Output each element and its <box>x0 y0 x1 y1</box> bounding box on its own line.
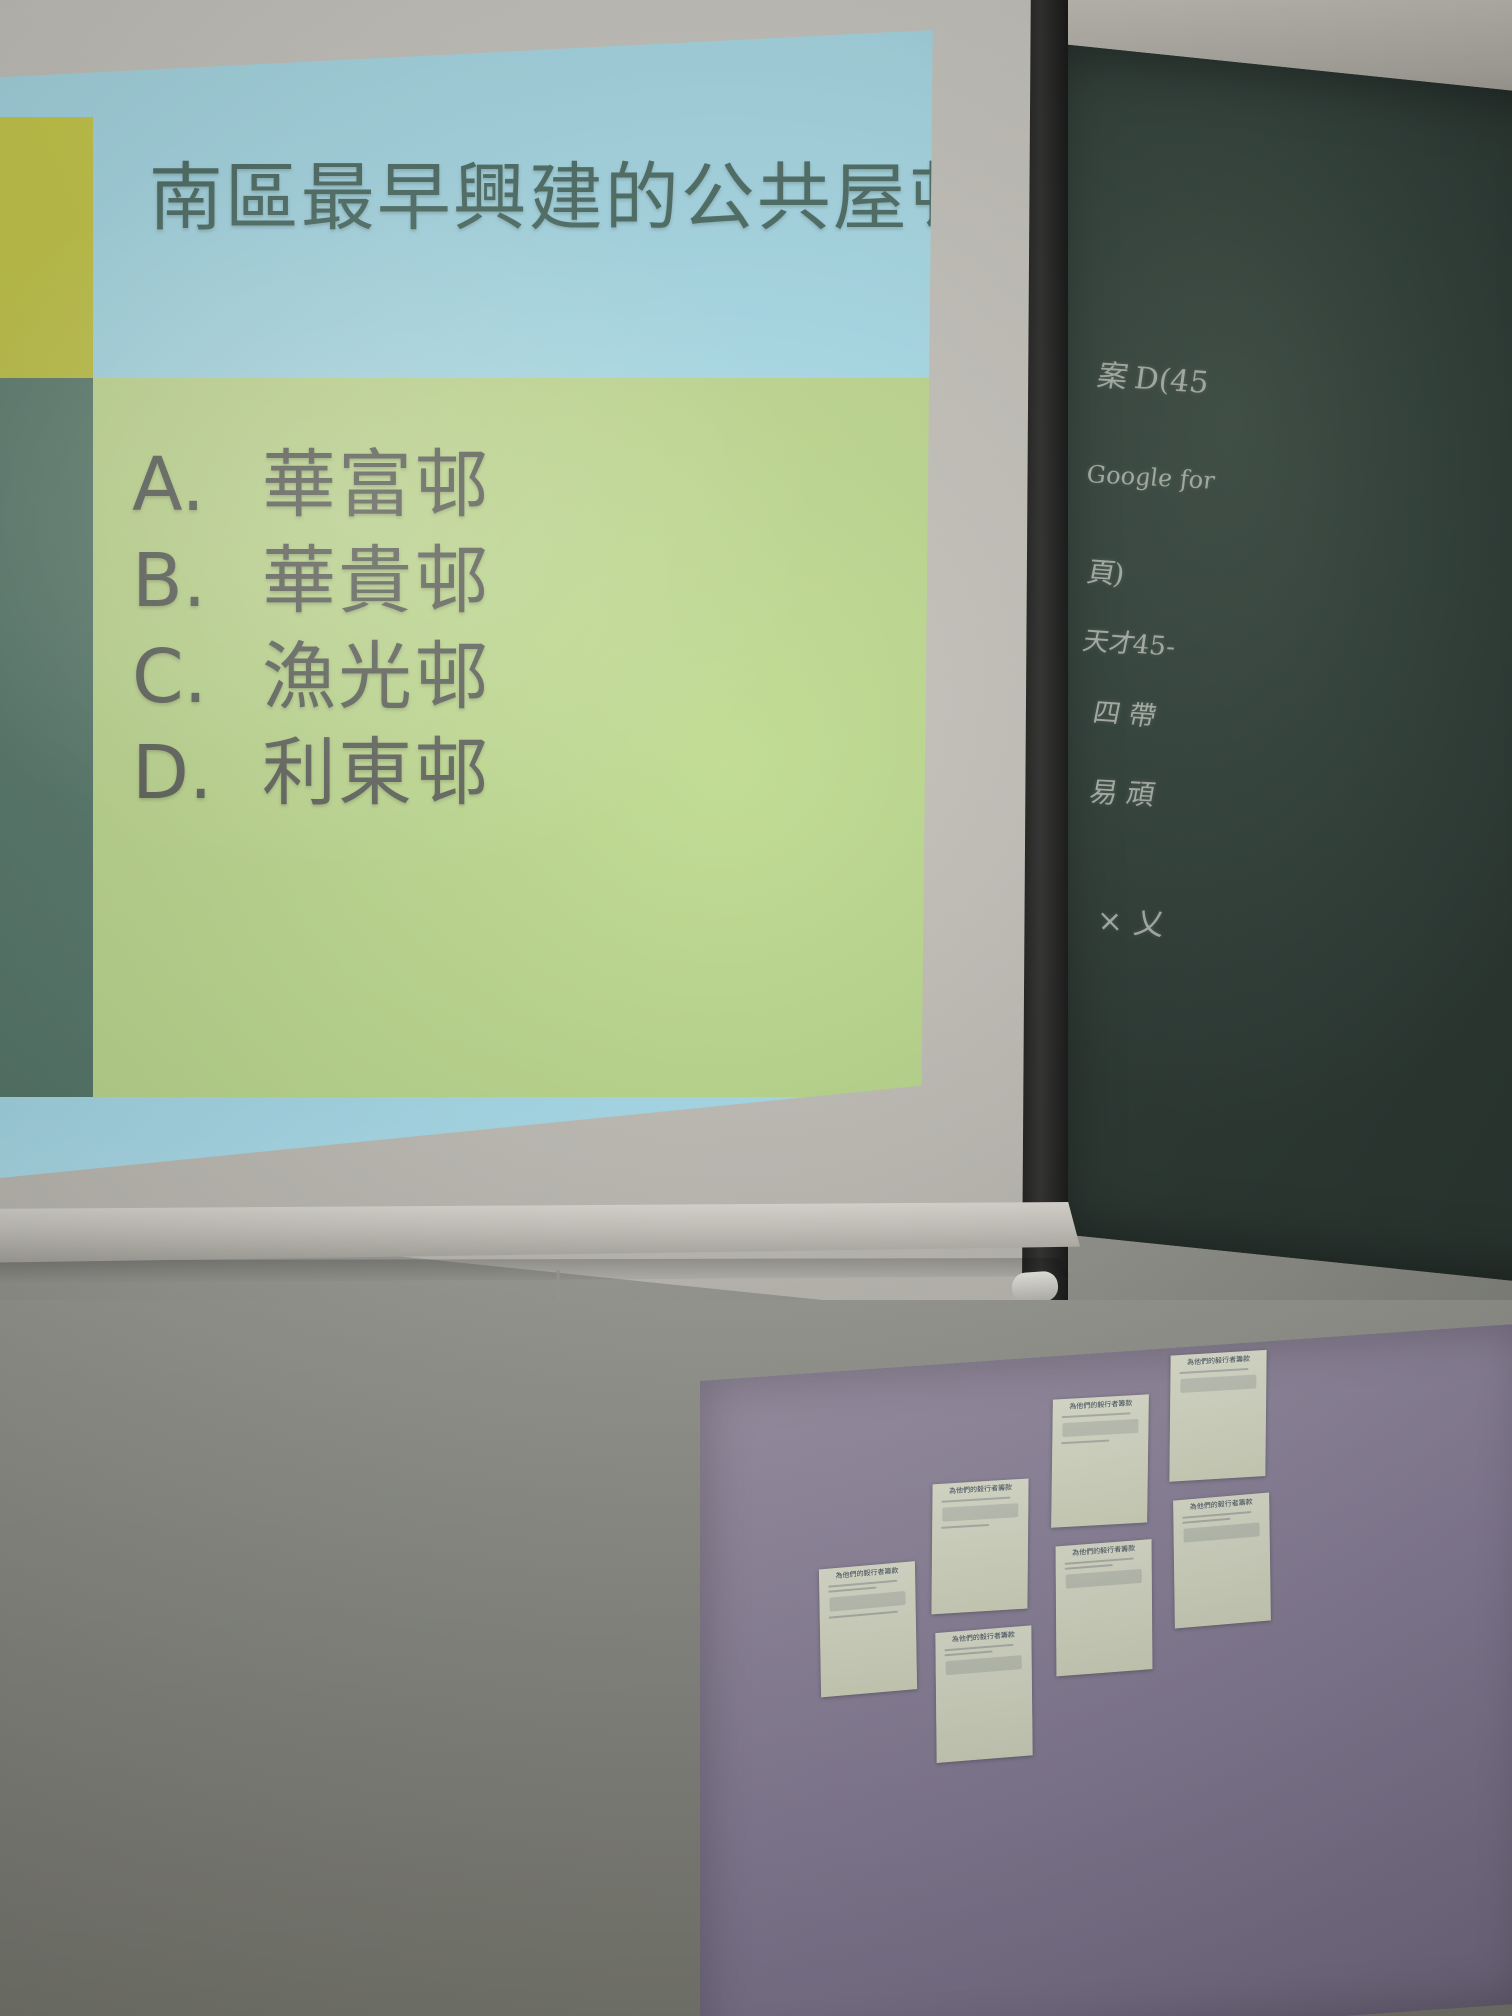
poster-title: 為他們的毅行者籌款 <box>1177 1498 1265 1513</box>
poster-line <box>944 1644 1013 1652</box>
poster-line <box>1182 1517 1230 1523</box>
option-d-text: 利東邨 <box>262 736 490 810</box>
option-row-a: A. 華富邨 <box>132 448 490 522</box>
poster-item[interactable]: 為他們的毅行者籌款 <box>819 1561 917 1697</box>
option-c-key: C. <box>132 640 228 714</box>
screen-roller-end-cap[interactable] <box>1011 1270 1059 1303</box>
poster-item[interactable]: 為他們的毅行者籌款 <box>1173 1493 1271 1629</box>
poster-figure <box>1066 1569 1142 1589</box>
projected-slide: 南區最早興建的公共屋邨是？ A. 華富邨 B. 華貴邨 C. 漁光邨 <box>0 30 1000 1190</box>
poster-line <box>941 1496 1010 1502</box>
slide-accent-olive-block <box>0 117 93 384</box>
poster-line <box>1062 1412 1131 1418</box>
poster-item[interactable]: 為他們的毅行者籌款 <box>935 1625 1032 1763</box>
option-d-key: D. <box>132 736 228 810</box>
option-a-text: 華富邨 <box>262 448 490 522</box>
poster-figure <box>829 1591 905 1612</box>
poster-item[interactable]: 為他們的毅行者籌款 <box>1056 1539 1153 1676</box>
slide-question-title: 南區最早興建的公共屋邨是？ <box>149 158 1000 239</box>
poster-line <box>829 1610 898 1618</box>
slide-left-dark-block <box>0 378 93 1190</box>
poster-figure <box>1180 1374 1256 1393</box>
classroom-photo: 案 D(45 Google for 頁) 天才45- 四 帶 易 頑 × 乂 南… <box>0 0 1512 2016</box>
poster-pinboard: 為他們的毅行者籌款 為他們的毅行者籌款 為他們的毅行者籌款 為他們的毅行者籌款 … <box>700 1323 1512 2016</box>
slide-canvas: 南區最早興建的公共屋邨是？ A. 華富邨 B. 華貴邨 C. 漁光邨 <box>0 30 1000 1190</box>
poster-item[interactable]: 為他們的毅行者籌款 <box>1051 1394 1149 1527</box>
projector-screen-assembly[interactable]: 南區最早興建的公共屋邨是？ A. 華富邨 B. 華貴邨 C. 漁光邨 <box>0 0 1120 1370</box>
poster-figure <box>942 1503 1018 1522</box>
poster-title: 為他們的毅行者籌款 <box>939 1631 1027 1646</box>
poster-title: 為他們的毅行者籌款 <box>1057 1400 1145 1413</box>
poster-figure <box>1062 1419 1138 1437</box>
poster-line <box>1061 1439 1109 1444</box>
poster-line <box>945 1650 993 1656</box>
option-c-text: 漁光邨 <box>262 640 490 714</box>
poster-title: 為他們的毅行者籌款 <box>1175 1355 1263 1368</box>
poster-title: 為他們的毅行者籌款 <box>936 1484 1024 1497</box>
poster-title: 為他們的毅行者籌款 <box>823 1567 911 1582</box>
option-row-d: D. 利東邨 <box>132 736 490 810</box>
option-b-key: B. <box>132 544 228 618</box>
option-b-text: 華貴邨 <box>262 544 490 618</box>
poster-line <box>1182 1511 1251 1519</box>
option-row-b: B. 華貴邨 <box>132 544 490 618</box>
poster-line <box>1065 1564 1113 1570</box>
option-a-key: A. <box>132 448 228 522</box>
poster-item[interactable]: 為他們的毅行者籌款 <box>931 1478 1028 1614</box>
poster-line <box>828 1586 876 1592</box>
poster-item[interactable]: 為他們的毅行者籌款 <box>1169 1350 1266 1482</box>
poster-line <box>941 1524 989 1529</box>
poster-line <box>1065 1557 1134 1564</box>
poster-title: 為他們的毅行者籌款 <box>1060 1544 1148 1558</box>
poster-figure <box>1184 1522 1260 1542</box>
poster-line <box>828 1579 897 1587</box>
slide-options-list: A. 華富邨 B. 華貴邨 C. 漁光邨 D. 利東邨 <box>132 448 490 810</box>
option-row-c: C. 漁光邨 <box>132 640 490 714</box>
poster-line <box>1179 1368 1248 1374</box>
poster-figure <box>946 1655 1022 1675</box>
